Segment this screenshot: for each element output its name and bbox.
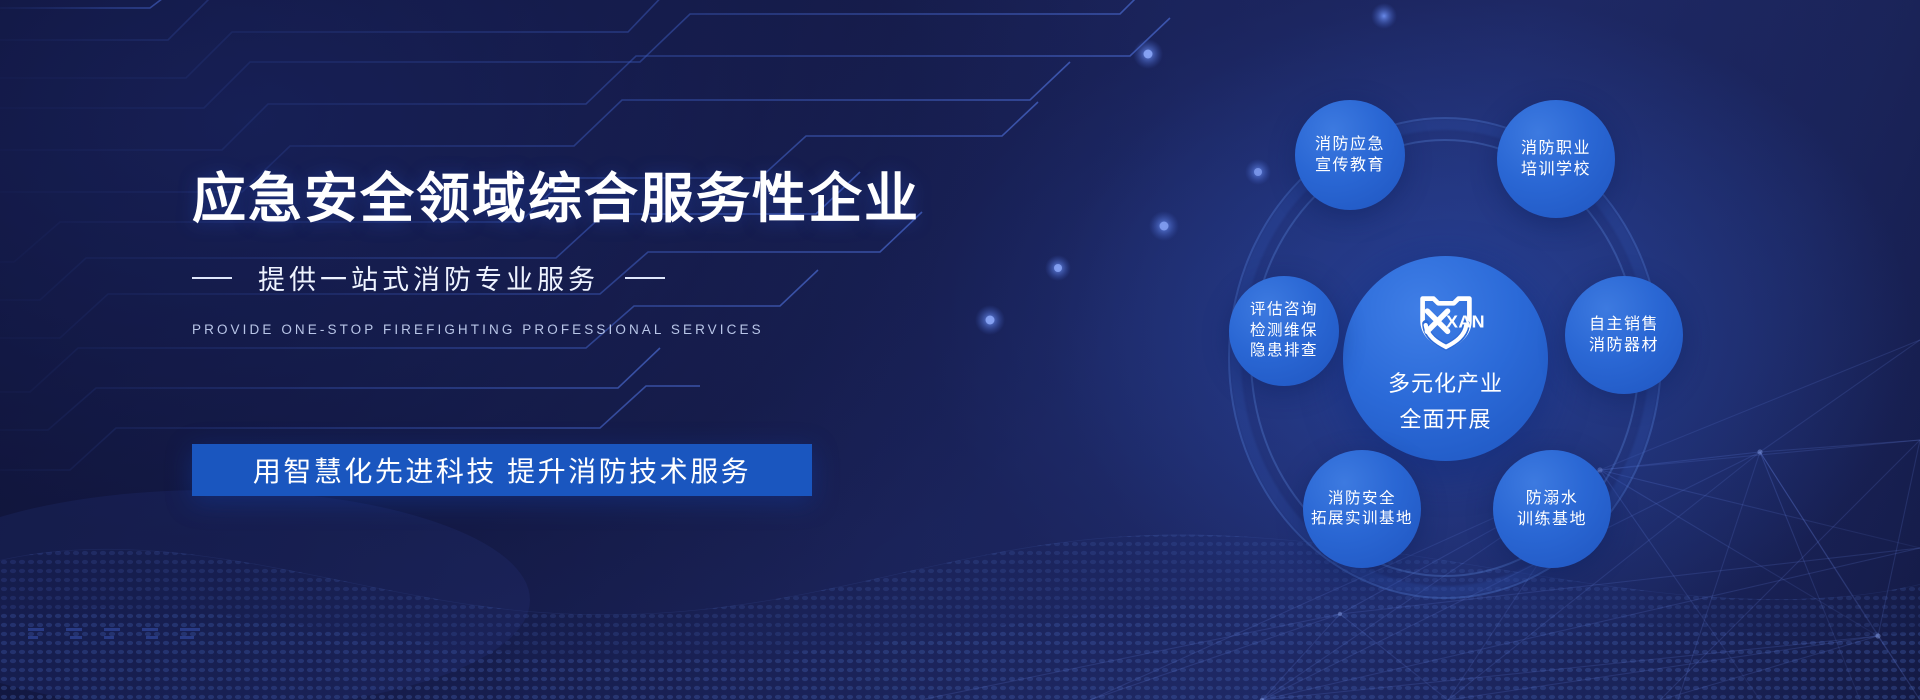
node-line-2: 培训学校: [1521, 159, 1591, 180]
cta-label: 用智慧化先进科技 提升消防技术服务: [253, 450, 751, 490]
diagram-node-fire-emergency-education[interactable]: 消防应急 宣传教育: [1295, 100, 1405, 210]
hero-banner: 应急安全领域综合服务性企业 提供一站式消防专业服务 PROVIDE ONE-ST…: [0, 0, 1920, 700]
center-line-2: 全面开展: [1399, 405, 1491, 434]
dash-left-icon: [192, 277, 232, 279]
business-circle-diagram: XAN 多元化产业 全面开展 消防应急 宣传教育 消防职业 培训学校 评估咨询 …: [1125, 78, 1765, 638]
cta-banner[interactable]: 用智慧化先进科技 提升消防技术服务: [192, 444, 812, 496]
node-line-2: 检测维保: [1250, 321, 1318, 341]
diagram-center-node[interactable]: XAN 多元化产业 全面开展: [1343, 256, 1548, 461]
node-line-1: 消防安全: [1328, 489, 1396, 509]
node-line-2: 消防器材: [1589, 335, 1659, 356]
hero-subtitle: 提供一站式消防专业服务: [192, 258, 952, 297]
node-line-2: 宣传教育: [1315, 155, 1385, 176]
node-line-1: 自主销售: [1589, 314, 1659, 335]
diagram-node-assessment-inspection[interactable]: 评估咨询 检测维保 隐患排查: [1229, 276, 1339, 386]
node-line-1: 消防职业: [1521, 138, 1591, 159]
node-line-2: 训练基地: [1517, 509, 1587, 530]
diagram-node-safety-training-base[interactable]: 消防安全 拓展实训基地: [1303, 450, 1421, 568]
page-title: 应急安全领域综合服务性企业: [192, 170, 952, 229]
shield-xan-logo-icon: XAN: [1407, 283, 1485, 361]
logo-text: XAN: [1446, 312, 1485, 332]
node-line-1: 防溺水: [1526, 488, 1579, 509]
dash-right-icon: [625, 277, 665, 279]
node-line-1: 评估咨询: [1250, 300, 1318, 320]
node-line-1: 消防应急: [1315, 134, 1385, 155]
center-line-1: 多元化产业: [1388, 369, 1503, 398]
diagram-node-equipment-sales[interactable]: 自主销售 消防器材: [1565, 276, 1683, 394]
node-line-2: 拓展实训基地: [1311, 509, 1413, 529]
diagram-node-fire-vocational-school[interactable]: 消防职业 培训学校: [1497, 100, 1615, 218]
hero-subtitle-english: PROVIDE ONE-STOP FIREFIGHTING PROFESSION…: [192, 322, 952, 337]
hero-copy: 应急安全领域综合服务性企业 提供一站式消防专业服务 PROVIDE ONE-ST…: [192, 170, 952, 337]
diagram-node-anti-drowning-base[interactable]: 防溺水 训练基地: [1493, 450, 1611, 568]
node-line-3: 隐患排查: [1250, 341, 1318, 361]
hero-subtitle-text: 提供一站式消防专业服务: [258, 258, 599, 297]
